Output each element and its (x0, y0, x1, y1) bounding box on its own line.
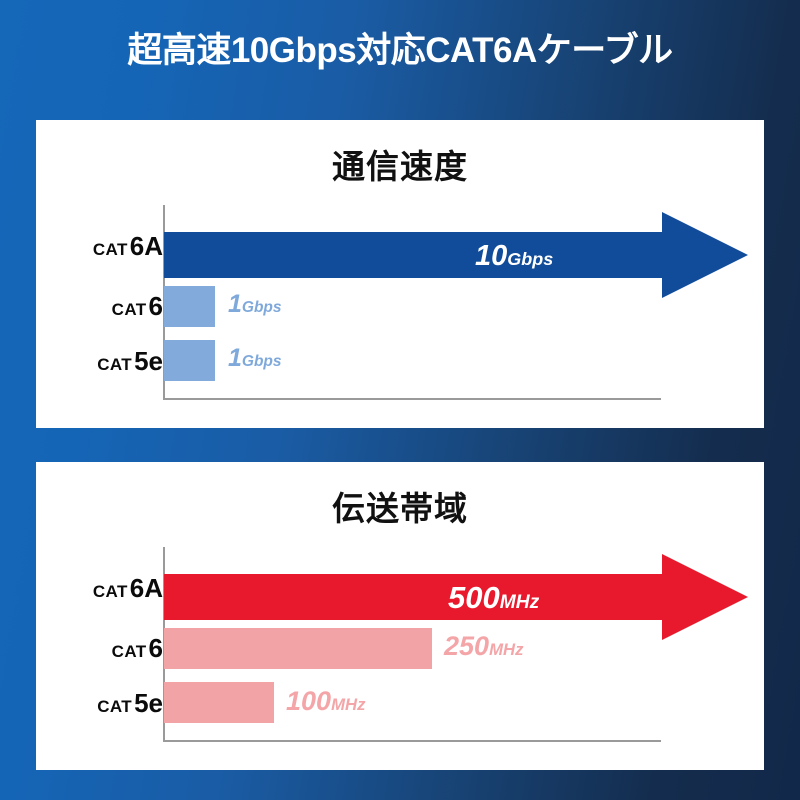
value-label-bandwidth-cat6a: 500MHz (448, 582, 539, 613)
arrow-body (164, 232, 664, 278)
bar-speed-cat6a (164, 232, 664, 278)
value-label-speed-cat5e: 1Gbps (228, 346, 282, 371)
category-number: 5e (134, 346, 163, 376)
chart-panel-bandwidth: 伝送帯域 CAT6A 500MHz CAT6 250MH (36, 462, 764, 770)
infographic-page: 超高速10Gbps対応CAT6Aケーブル 通信速度 CAT6A 10Gbps C… (0, 0, 800, 800)
plot-area-speed: CAT6A 10Gbps CAT6 1Gbps CAT5e (36, 120, 764, 428)
category-word: CAT (97, 697, 132, 716)
axis-horizontal (163, 398, 661, 400)
bar-bandwidth-cat6 (164, 628, 432, 669)
category-number: 6A (130, 573, 163, 603)
value-label-bandwidth-cat6: 250MHz (444, 633, 523, 660)
category-word: CAT (97, 355, 132, 374)
bar-speed-cat6 (164, 286, 215, 327)
axis-horizontal (163, 740, 661, 742)
category-number: 6A (130, 231, 163, 261)
category-word: CAT (93, 582, 128, 601)
arrow-head-icon (662, 554, 748, 640)
page-title: 超高速10Gbps対応CAT6Aケーブル (0, 28, 800, 74)
bar-bandwidth-cat5e (164, 682, 274, 723)
bar-bandwidth-cat6a (164, 574, 664, 620)
category-word: CAT (93, 240, 128, 259)
category-word: CAT (112, 642, 147, 661)
category-number: 6 (149, 291, 163, 321)
arrow-head-icon (662, 212, 748, 298)
value-label-speed-cat6: 1Gbps (228, 292, 282, 317)
arrow-body (164, 574, 664, 620)
chart-panel-speed: 通信速度 CAT6A 10Gbps CAT6 1Gbps (36, 120, 764, 428)
bar-speed-cat5e (164, 340, 215, 381)
header-banner: 超高速10Gbps対応CAT6Aケーブル (0, 0, 800, 120)
category-number: 5e (134, 688, 163, 718)
value-label-bandwidth-cat5e: 100MHz (286, 688, 365, 715)
plot-area-bandwidth: CAT6A 500MHz CAT6 250MHz CAT5e (36, 462, 764, 770)
category-word: CAT (112, 300, 147, 319)
value-label-speed-cat6a: 10Gbps (475, 242, 553, 271)
category-number: 6 (149, 633, 163, 663)
